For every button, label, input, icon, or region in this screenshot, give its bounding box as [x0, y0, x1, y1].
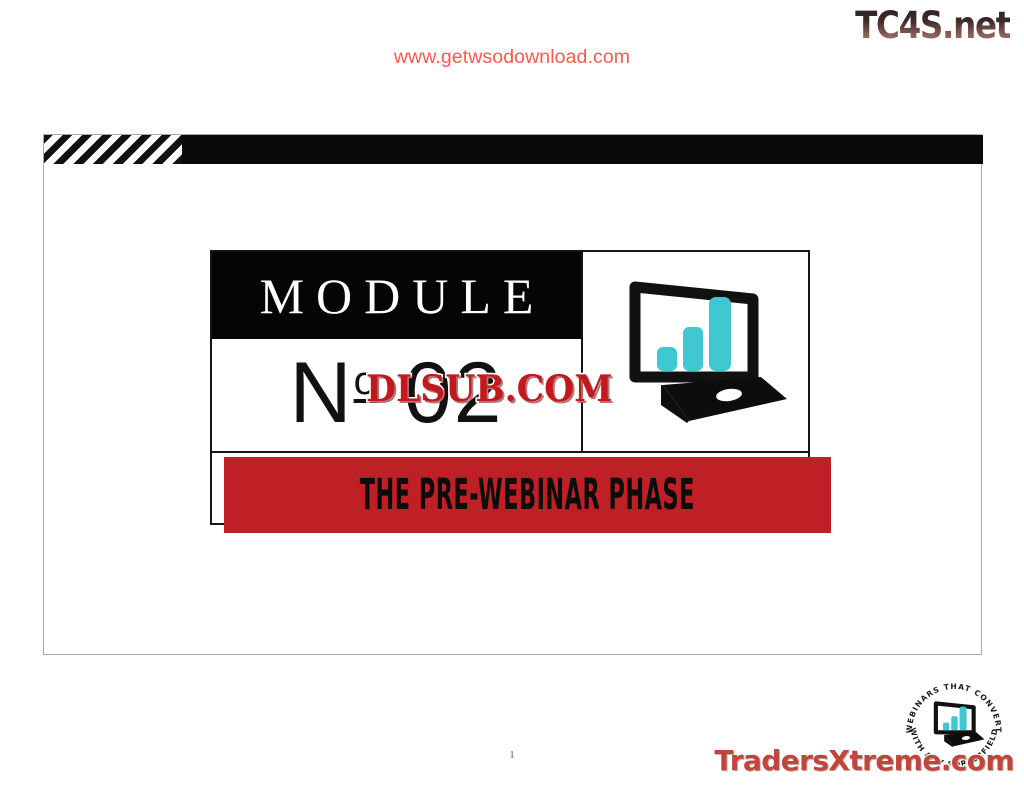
module-label: MODULE [248, 271, 546, 321]
banner-red: THE PRE-WEBINAR PHASE [224, 457, 831, 533]
tradersxtreme-watermark: TradersXtreme.com [714, 744, 1014, 777]
laptop-bar-chart-icon [601, 273, 791, 433]
header-solid-bar [182, 135, 983, 164]
laptop-bar-chart-icon [936, 703, 985, 747]
module-card: MODULE No 02 [210, 250, 810, 456]
site-url-watermark: www.getwsodownload.com [0, 46, 1024, 69]
diagonal-stripes-decoration [44, 135, 182, 164]
module-title-bar: MODULE [212, 252, 581, 339]
module-card-right [583, 252, 808, 454]
banner-title: THE PRE-WEBINAR PHASE [360, 474, 695, 517]
tc4s-watermark: TC4S.net [855, 4, 1010, 47]
slide-header-bar [44, 135, 983, 164]
dlsub-watermark: DLSUB.COM [366, 368, 612, 410]
module-card-left: MODULE No 02 [212, 252, 583, 454]
